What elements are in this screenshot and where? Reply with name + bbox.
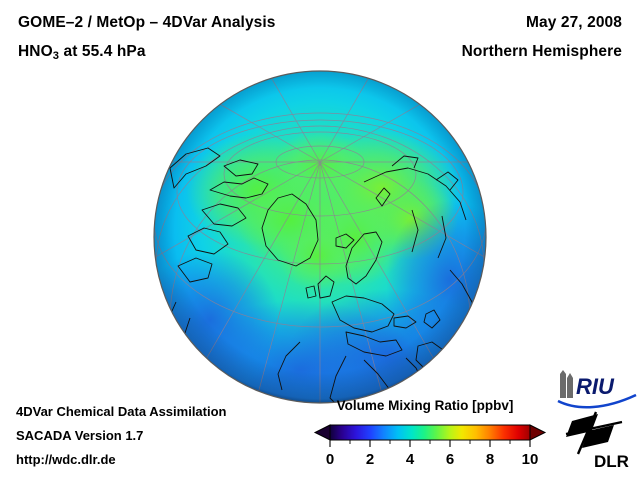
colorbar-ramp	[330, 425, 530, 440]
dlr-logo: DLR	[566, 412, 629, 471]
logo-panel: RIU DLR	[552, 368, 640, 472]
species-subtitle: HNO3 at 55.4 hPa	[18, 43, 146, 62]
footer-line-assimilation: 4DVar Chemical Data Assimilation	[16, 404, 227, 419]
colorbar-tick-2: 4	[406, 451, 415, 468]
colorbar-tick-3: 6	[446, 451, 454, 468]
species-prefix: HNO	[18, 43, 53, 60]
footer-line-url[interactable]: http://wdc.dlr.de	[16, 452, 116, 467]
colorbar-tick-labels: 0 2 4 6 8 10	[326, 451, 539, 468]
globe-map	[150, 70, 490, 404]
page-title: GOME–2 / MetOp – 4DVar Analysis	[18, 14, 276, 32]
colorbar-tick-4: 8	[486, 451, 494, 468]
globe-svg	[150, 70, 490, 404]
footer-line-version: SACADA Version 1.7	[16, 428, 143, 443]
dlr-mark-icon	[566, 414, 614, 448]
colorbar-legend: Volume Mixing Ratio [ppbv]	[300, 398, 550, 474]
date-label: May 27, 2008	[526, 14, 622, 32]
logos-svg: RIU DLR	[552, 368, 640, 472]
riu-wordmark: RIU	[576, 374, 615, 399]
species-suffix: at 55.4 hPa	[59, 43, 146, 60]
colorbar-graphic: 0 2 4 6 8 10	[300, 418, 550, 472]
colorbar-under-arrow	[315, 425, 330, 440]
colorbar-over-arrow	[530, 425, 545, 440]
colorbar-tick-0: 0	[326, 451, 334, 468]
region-label: Northern Hemisphere	[462, 43, 622, 61]
data-field-layer	[150, 70, 490, 404]
dlr-wordmark: DLR	[594, 452, 629, 471]
colorbar-tick-1: 2	[366, 451, 374, 468]
colorbar-title: Volume Mixing Ratio [ppbv]	[300, 398, 550, 413]
colorbar-ticks	[330, 440, 530, 447]
colorbar-tick-5: 10	[522, 451, 539, 468]
riu-logo: RIU	[558, 370, 636, 407]
